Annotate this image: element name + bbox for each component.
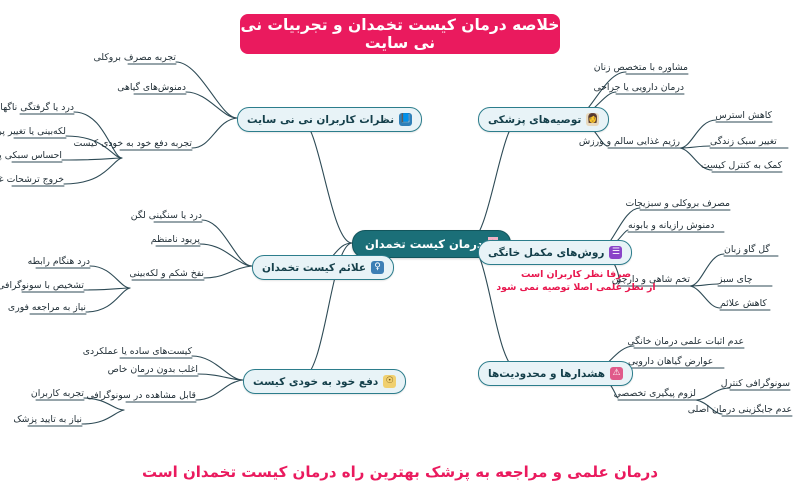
branch-label: روش‌های مکمل خانگی (488, 247, 604, 259)
branch-node-self-resolve[interactable]: ☉ دفع خود به خودی کیست (243, 369, 406, 394)
leaf-no-scientific-proof: عدم اثبات علمی درمان خانگی (634, 336, 744, 349)
leaf-specialist-followup: لزوم پیگیری تخصصی (618, 388, 696, 401)
leaf-medication-or-surgery: درمان دارویی یا جراحی (616, 82, 684, 95)
leaf-stress-reduction: کاهش استرس (716, 110, 772, 123)
warning-icon: ⚠ (610, 367, 623, 380)
leaf-cress-cinnamon: تخم شاهی و دارچین (618, 274, 690, 287)
branch-label: دفع خود به خودی کیست (253, 376, 378, 388)
leaf-control-ultrasound: سونوگرافی کنترل (730, 378, 790, 391)
leaf-broccoli-vegetables: مصرف بروکلی و سبزیجات (640, 198, 730, 211)
leaf-doctor-confirmation: نیاز به تایید پزشک (28, 414, 82, 427)
branch-node-medical-advice[interactable]: 👩 توصیه‌های پزشکی (478, 107, 609, 132)
branch-label: نظرات کاربران نی نی سایت (247, 114, 394, 126)
leaf-herb-side-effects: عوارض گیاهان دارویی (628, 356, 724, 369)
footer-text: درمان علمی و مراجعه به پزشک بهترین راه د… (100, 458, 700, 486)
doctor-icon: 👩 (586, 113, 599, 126)
root-node-label: درمان کیست تخمدان (365, 237, 483, 251)
leaf-unusual-discharge: خروج ترشحات غیرمعمول (12, 174, 64, 187)
notebook-icon: 📘 (399, 113, 412, 126)
leaf-gynecologist-consult: مشاوره با متخصص زنان (626, 62, 688, 75)
leaf-pelvic-pain: درد یا سنگینی لگن (154, 210, 202, 223)
branch-label: هشدارها و محدودیت‌ها (488, 368, 605, 380)
leaf-simple-functional-cysts: کیست‌های ساده یا عملکردی (120, 346, 192, 359)
leaf-ultrasound-diagnosis: تشخیص با سونوگرافی (22, 280, 84, 293)
branch-node-warnings[interactable]: ⚠ هشدارها و محدودیت‌ها (478, 361, 633, 386)
leaf-green-tea: چای سبز (718, 274, 772, 287)
self-resolve-icon: ☉ (383, 375, 396, 388)
leaf-bloating-spotting: نفخ شکم و لکه‌بینی (132, 268, 204, 281)
woman-icon: ♀ (371, 261, 384, 274)
leaf-symptom-reduction: کاهش علائم (720, 298, 770, 311)
leaf-lightness-after-discharge: احساس سبکی پس از دفع (12, 150, 62, 163)
leaf-user-experience: تجربه کاربران (36, 388, 84, 401)
leaf-irregular-period: پریود نامنظم (156, 234, 200, 247)
leaf-lifestyle-change: تغییر سبک زندگی (710, 136, 788, 149)
leaf-urgent-referral: نیاز به مراجعه فوری (30, 302, 86, 315)
leaf-fennel-chamomile-tea: دمنوش رازیانه و بابونه (628, 220, 724, 233)
leaf-no-replacement-main-treatment: عدم جایگزینی درمان اصلی (722, 404, 792, 417)
leaf-often-no-treatment: اغلب بدون درمان خاص (138, 364, 198, 377)
leaf-borage-flower: گل گاو زبان (724, 244, 778, 257)
leaf-spotting-period-change: لکه‌بینی یا تغییر پریود (14, 126, 66, 139)
leaf-broccoli-experience: تجربه مصرف بروکلی (128, 52, 176, 65)
branch-label: علائم کیست تخمدان (262, 262, 366, 274)
leaf-healthy-diet-exercise: رژیم غذایی سالم و ورزش (608, 136, 680, 149)
branch-label: توصیه‌های پزشکی (488, 114, 581, 126)
leaf-sudden-pain: درد یا گرفتگی ناگهانی (20, 102, 74, 115)
branch-node-home-methods[interactable]: ☰ روش‌های مکمل خانگی (478, 240, 632, 265)
mindmap-canvas: خلاصه درمان کیست تخمدان و تجربیات نی نی … (0, 0, 800, 500)
herbs-icon: ☰ (609, 246, 622, 259)
leaf-cyst-control-help: کمک به کنترل کیست (712, 160, 782, 173)
branch-node-user-comments[interactable]: 📘 نظرات کاربران نی نی سایت (237, 107, 422, 132)
leaf-self-discharge-experience: تجربه دفع خود به خودی کیست (120, 138, 192, 151)
leaf-pain-during-intercourse: درد هنگام رابطه (36, 256, 90, 269)
leaf-herbal-teas: دمنوش‌های گیاهی (134, 82, 186, 95)
title-banner: خلاصه درمان کیست تخمدان و تجربیات نی نی … (240, 14, 560, 54)
leaf-visible-on-ultrasound: قابل مشاهده در سونوگرافی (126, 390, 196, 403)
branch-node-symptoms[interactable]: ♀ علائم کیست تخمدان (252, 255, 394, 280)
